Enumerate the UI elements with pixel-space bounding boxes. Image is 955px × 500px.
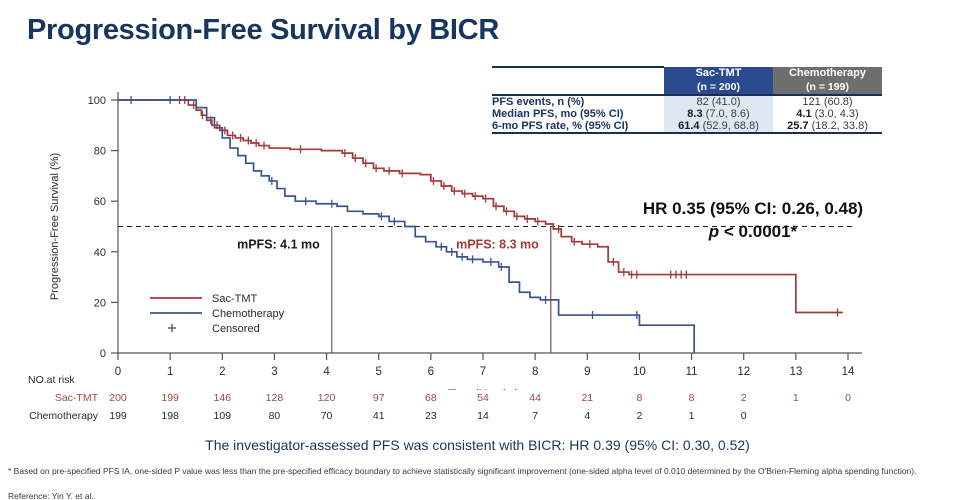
risk-value: 41: [366, 410, 392, 422]
stats-cell-sac-1: 8.3 (7.0, 8.6): [664, 108, 773, 120]
stats-cell-chemo-2-bold: 25.7: [787, 120, 808, 132]
stats-cell-chemo-0-rest: 121 (60.8): [802, 96, 852, 108]
risk-value: 0: [731, 410, 757, 422]
table-row: Median PFS, mo (95% CI) 8.3 (7.0, 8.6) 4…: [492, 108, 882, 120]
x-tick-label: 6: [428, 366, 434, 378]
risk-value: 68: [418, 392, 444, 404]
x-tick-label: 9: [584, 366, 590, 378]
risk-row-chemo-label: Chemotherapy: [0, 410, 98, 422]
risk-value: 97: [366, 392, 392, 404]
risk-row-sac-label: Sac-TMT: [0, 392, 98, 404]
annotation-mpfs-chemo: mPFS: 4.1 mo: [237, 238, 320, 252]
stats-header-sac: Sac-TMT (n = 200): [664, 67, 773, 95]
risk-value: 109: [209, 410, 235, 422]
stats-table: Sac-TMT (n = 200) Chemotherapy (n = 199)…: [492, 66, 882, 134]
stats-cell-sac-0: 82 (41.0): [664, 95, 773, 108]
stats-header-chemo: Chemotherapy (n = 199): [773, 67, 882, 95]
x-tick-label: 8: [532, 366, 538, 378]
risk-value: 44: [522, 392, 548, 404]
hazard-ratio-text: HR 0.35 (95% CI: 0.26, 0.48): [608, 198, 898, 221]
summary-line: The investigator-assessed PFS was consis…: [0, 437, 955, 453]
risk-value: 0: [835, 392, 861, 404]
legend-label-2: Censored: [212, 323, 260, 335]
table-row: 6-mo PFS rate, % (95% CI) 61.4 (52.9, 68…: [492, 120, 882, 133]
x-tick-label: 10: [633, 366, 646, 378]
y-tick-label: 80: [94, 146, 106, 158]
y-tick-label: 100: [88, 95, 106, 107]
stats-header-sac-name: Sac-TMT: [696, 67, 742, 79]
y-tick-label: 40: [94, 247, 106, 259]
stats-row-label-1: Median PFS, mo (95% CI): [492, 108, 664, 120]
risk-value: 14: [470, 410, 496, 422]
risk-value: 54: [470, 392, 496, 404]
x-tick-label: 14: [842, 366, 855, 378]
stats-cell-sac-2-rest: (52.9, 68.8): [703, 120, 759, 132]
risk-value: 199: [105, 410, 131, 422]
x-axis-title: Time (Months): [448, 388, 519, 390]
stats-cell-sac-1-rest: (7.0, 8.6): [706, 108, 750, 120]
x-tick-label: 12: [737, 366, 750, 378]
table-row: PFS events, n (%) 82 (41.0) 121 (60.8): [492, 95, 882, 108]
x-tick-label: 7: [480, 366, 486, 378]
stats-cell-sac-2-bold: 61.4: [678, 120, 699, 132]
stats-cell-chemo-0: 121 (60.8): [773, 95, 882, 108]
stats-cell-chemo-1-bold: 4.1: [796, 108, 811, 120]
risk-value: 4: [574, 410, 600, 422]
stats-table-header-row: Sac-TMT (n = 200) Chemotherapy (n = 199): [492, 67, 882, 95]
y-tick-label: 0: [100, 348, 106, 360]
stats-cell-sac-2: 61.4 (52.9, 68.8): [664, 120, 773, 133]
stats-row-label-2: 6-mo PFS rate, % (95% CI): [492, 120, 664, 133]
x-tick-label: 2: [219, 366, 225, 378]
y-tick-label: 60: [94, 196, 106, 208]
risk-value: 199: [157, 392, 183, 404]
x-tick-label: 4: [323, 366, 330, 378]
p-value-symbol: p: [709, 222, 719, 241]
x-tick-label: 3: [271, 366, 277, 378]
page-title: Progression-Free Survival by BICR: [27, 14, 499, 47]
risk-value: 146: [209, 392, 235, 404]
stats-header-sac-n: (n = 200): [664, 81, 773, 94]
stats-header-blank: [492, 67, 664, 95]
legend-label-1: Chemotherapy: [212, 308, 285, 320]
risk-value: 70: [314, 410, 340, 422]
risk-value: 128: [261, 392, 287, 404]
risk-value: 200: [105, 392, 131, 404]
legend-label-0: Sac-TMT: [212, 293, 258, 305]
risk-row-chemo: Chemotherapy 199198109807041231474210: [18, 410, 898, 424]
annotation-mpfs-sac: mPFS: 8.3 mo: [456, 238, 539, 252]
risk-row-sac: Sac-TMT 200199146128120976854442188210: [18, 392, 898, 406]
stats-header-chemo-name: Chemotherapy: [789, 67, 866, 79]
stats-cell-chemo-2-rest: (18.2, 33.8): [812, 120, 868, 132]
risk-value: 2: [731, 392, 757, 404]
risk-value: 8: [679, 392, 705, 404]
stats-cell-chemo-2: 25.7 (18.2, 33.8): [773, 120, 882, 133]
x-tick-label: 1: [167, 366, 173, 378]
p-value-text: p < 0.0001*: [608, 221, 898, 244]
x-tick-label: 0: [115, 366, 121, 378]
risk-value: 1: [783, 392, 809, 404]
stats-header-chemo-n: (n = 199): [773, 81, 882, 94]
risk-value: 21: [574, 392, 600, 404]
risk-value: 23: [418, 410, 444, 422]
risk-value: 198: [157, 410, 183, 422]
p-value-rest: < 0.0001*: [719, 222, 797, 241]
y-tick-label: 20: [94, 297, 106, 309]
stats-cell-sac-0-rest: 82 (41.0): [696, 96, 740, 108]
risk-value: 80: [261, 410, 287, 422]
y-axis-title: Progression-Free Survival (%): [49, 153, 61, 300]
footnote: * Based on pre-specified PFS IA, one-sid…: [8, 466, 938, 477]
risk-value: 2: [626, 410, 652, 422]
stats-row-label-0: PFS events, n (%): [492, 95, 664, 108]
hazard-ratio-block: HR 0.35 (95% CI: 0.26, 0.48) p < 0.0001*: [608, 198, 898, 244]
stats-cell-chemo-1: 4.1 (3.0, 4.3): [773, 108, 882, 120]
x-tick-label: 11: [686, 366, 698, 378]
footnote-cut-off: Reference: Yin Y, et al.: [8, 491, 938, 499]
risk-value: 7: [522, 410, 548, 422]
risk-value: 8: [626, 392, 652, 404]
x-tick-label: 5: [376, 366, 382, 378]
stats-cell-chemo-1-rest: (3.0, 4.3): [815, 108, 859, 120]
number-at-risk-caption: NO.at risk: [28, 374, 75, 386]
x-tick-label: 13: [789, 366, 802, 378]
risk-value: 1: [679, 410, 705, 422]
risk-value: 120: [314, 392, 340, 404]
stats-cell-sac-1-bold: 8.3: [687, 108, 702, 120]
